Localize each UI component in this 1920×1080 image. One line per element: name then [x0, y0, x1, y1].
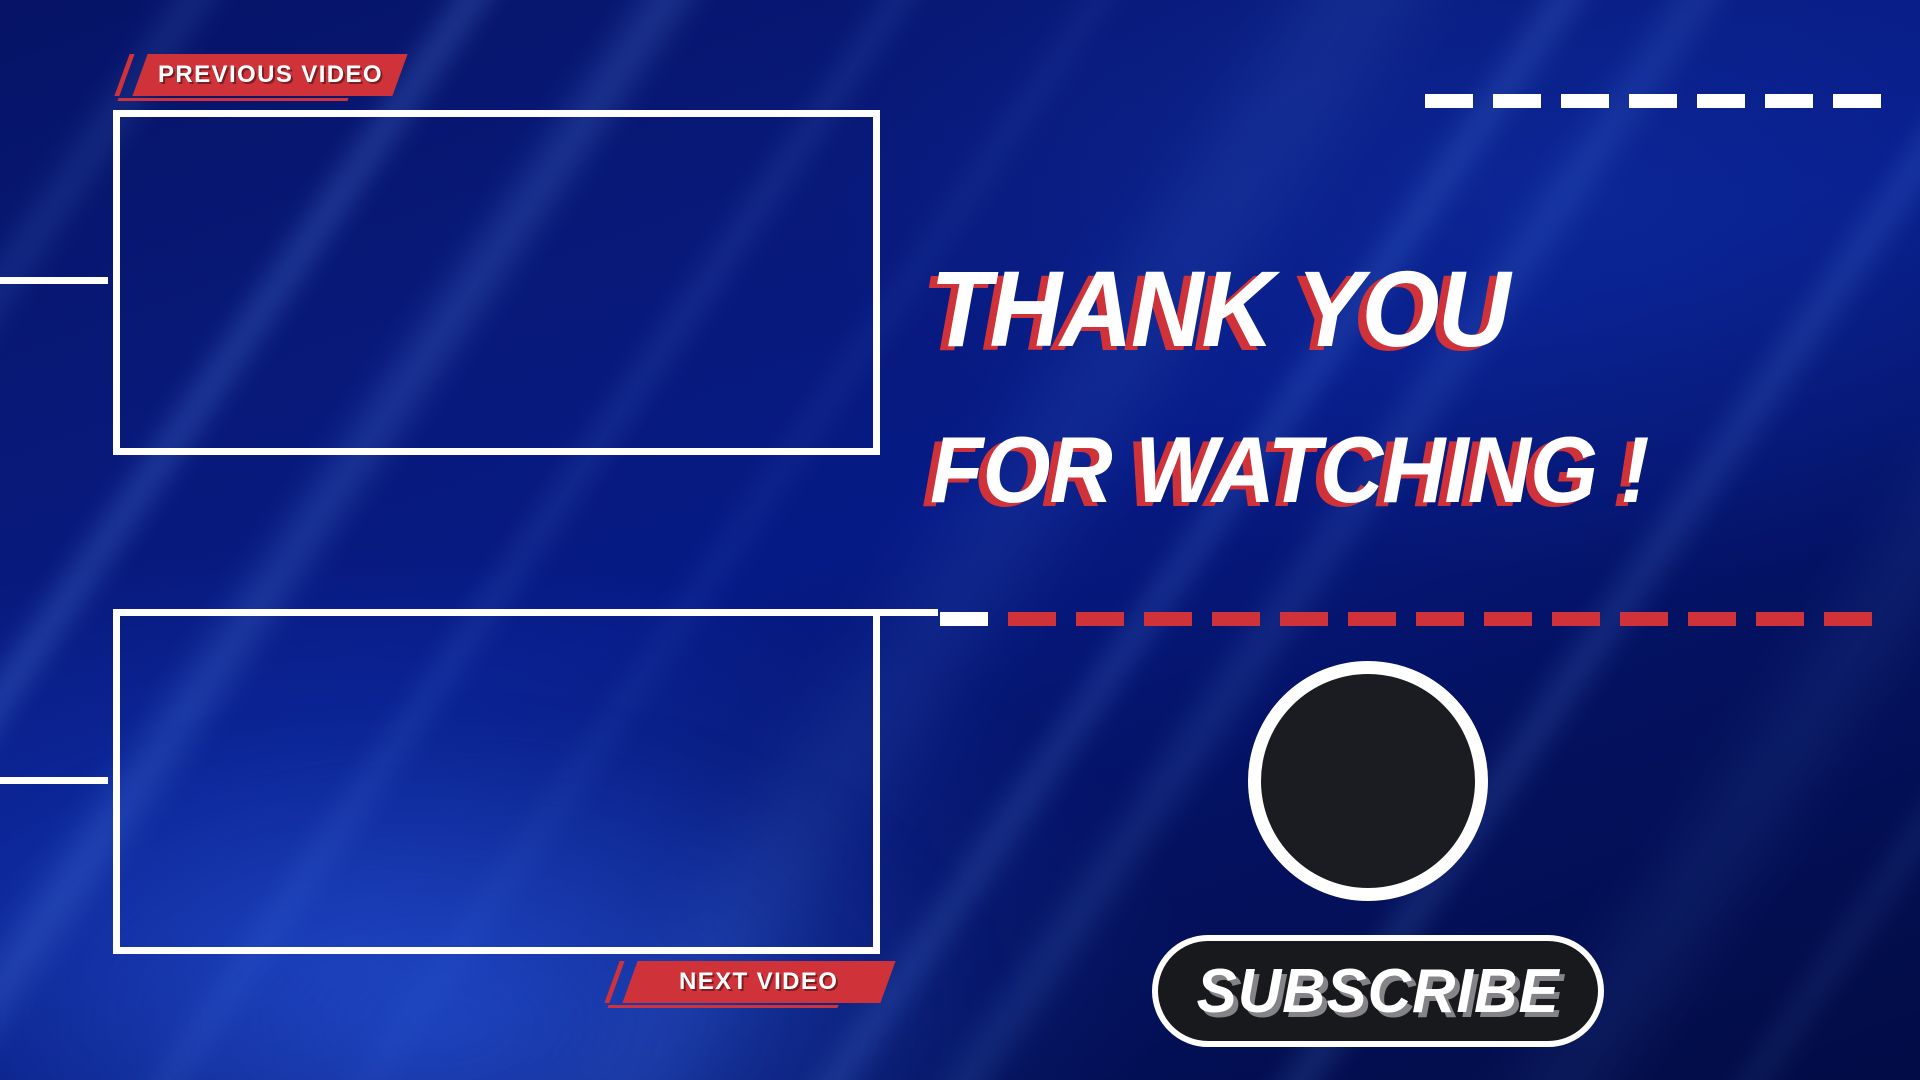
next-video-tag-underline: [607, 1005, 838, 1008]
headline-line-2: FOR WATCHING ! FOR WATCHING !: [930, 423, 1767, 517]
dash-segment: [1212, 612, 1260, 626]
light-streak: [917, 0, 1920, 1080]
next-video-top-stub: [880, 609, 938, 616]
light-streak: [1152, 0, 1920, 1080]
next-video-tag-label: NEXT VIDEO: [679, 968, 838, 996]
previous-video-connector-line: [0, 277, 108, 284]
dash-segment: [1280, 612, 1328, 626]
subscribe-button[interactable]: SUBSCRIBE: [1152, 935, 1604, 1047]
dash-segment: [1629, 94, 1677, 108]
dash-segment: [1824, 612, 1872, 626]
dash-segment: [1620, 612, 1668, 626]
dash-segment: [1756, 612, 1804, 626]
subscribe-button-label: SUBSCRIBE: [1197, 956, 1560, 1027]
next-video-connector-line: [0, 777, 108, 784]
dash-segment: [1493, 94, 1541, 108]
previous-video-tag-label: PREVIOUS VIDEO: [158, 61, 383, 89]
dash-segment: [1484, 612, 1532, 626]
dash-segment: [1833, 94, 1881, 108]
dash-segment: [940, 612, 988, 626]
previous-video-tag-accent: [114, 54, 134, 96]
dash-segment: [1697, 94, 1745, 108]
end-screen-canvas: PREVIOUS VIDEO NEXT VIDEO THANK YOU THAN…: [0, 0, 1920, 1080]
light-streak: [1377, 0, 1920, 1080]
headline-block: THANK YOU THANK YOU FOR WATCHING ! FOR W…: [930, 255, 1830, 517]
dash-segment: [1076, 612, 1124, 626]
dash-segment: [1008, 612, 1056, 626]
previous-video-thumbnail-slot[interactable]: [113, 110, 880, 455]
dash-segment: [1688, 612, 1736, 626]
dashed-line-middle: [940, 612, 1872, 626]
headline-line-1-fill: THANK YOU: [930, 248, 1509, 369]
previous-video-tag[interactable]: PREVIOUS VIDEO: [132, 54, 407, 96]
channel-avatar[interactable]: [1248, 661, 1488, 901]
next-video-tag[interactable]: NEXT VIDEO: [622, 961, 895, 1003]
previous-video-tag-underline: [117, 98, 348, 101]
dash-segment: [1144, 612, 1192, 626]
dash-segment: [1552, 612, 1600, 626]
headline-line-2-fill: FOR WATCHING !: [930, 417, 1649, 522]
dash-segment: [1348, 612, 1396, 626]
dash-segment: [1425, 94, 1473, 108]
dash-segment: [1561, 94, 1609, 108]
headline-line-1: THANK YOU THANK YOU: [930, 255, 1767, 363]
next-video-thumbnail-slot[interactable]: [113, 609, 880, 954]
dash-segment: [1765, 94, 1813, 108]
dashed-line-top: [1425, 94, 1881, 108]
dash-segment: [1416, 612, 1464, 626]
